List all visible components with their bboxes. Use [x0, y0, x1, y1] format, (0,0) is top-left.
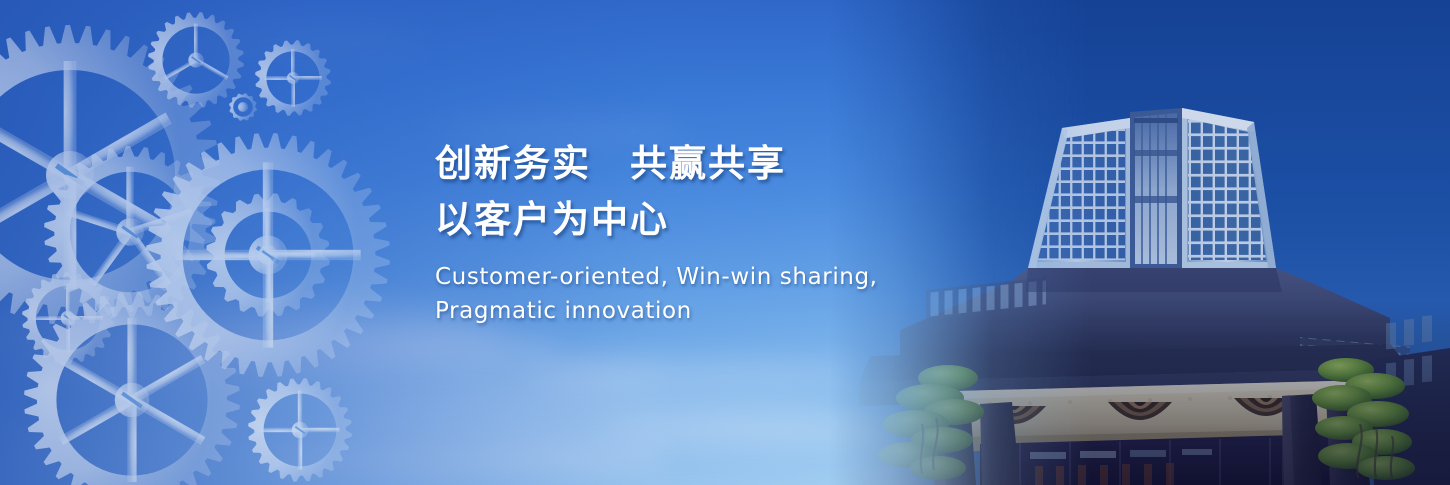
headline-chinese-line2: 以客户为中心 — [435, 194, 955, 246]
gear-tiny-top-icon — [229, 93, 257, 121]
subtitle-english-line1: Customer-oriented, Win-win sharing, — [435, 260, 955, 294]
headline-chinese-line1: 创新务实 共赢共享 — [435, 138, 955, 190]
gear-medium-inner-icon — [206, 193, 330, 317]
gear-bottom-mid-icon — [248, 378, 352, 482]
subtitle-english-line2: Pragmatic innovation — [435, 294, 955, 328]
hero-banner: 创新务实 共赢共享 以客户为中心 Customer-oriented, Win-… — [0, 0, 1450, 485]
gear-small-topright-icon — [255, 40, 331, 116]
banner-copy: 创新务实 共赢共享 以客户为中心 Customer-oriented, Win-… — [435, 138, 955, 328]
